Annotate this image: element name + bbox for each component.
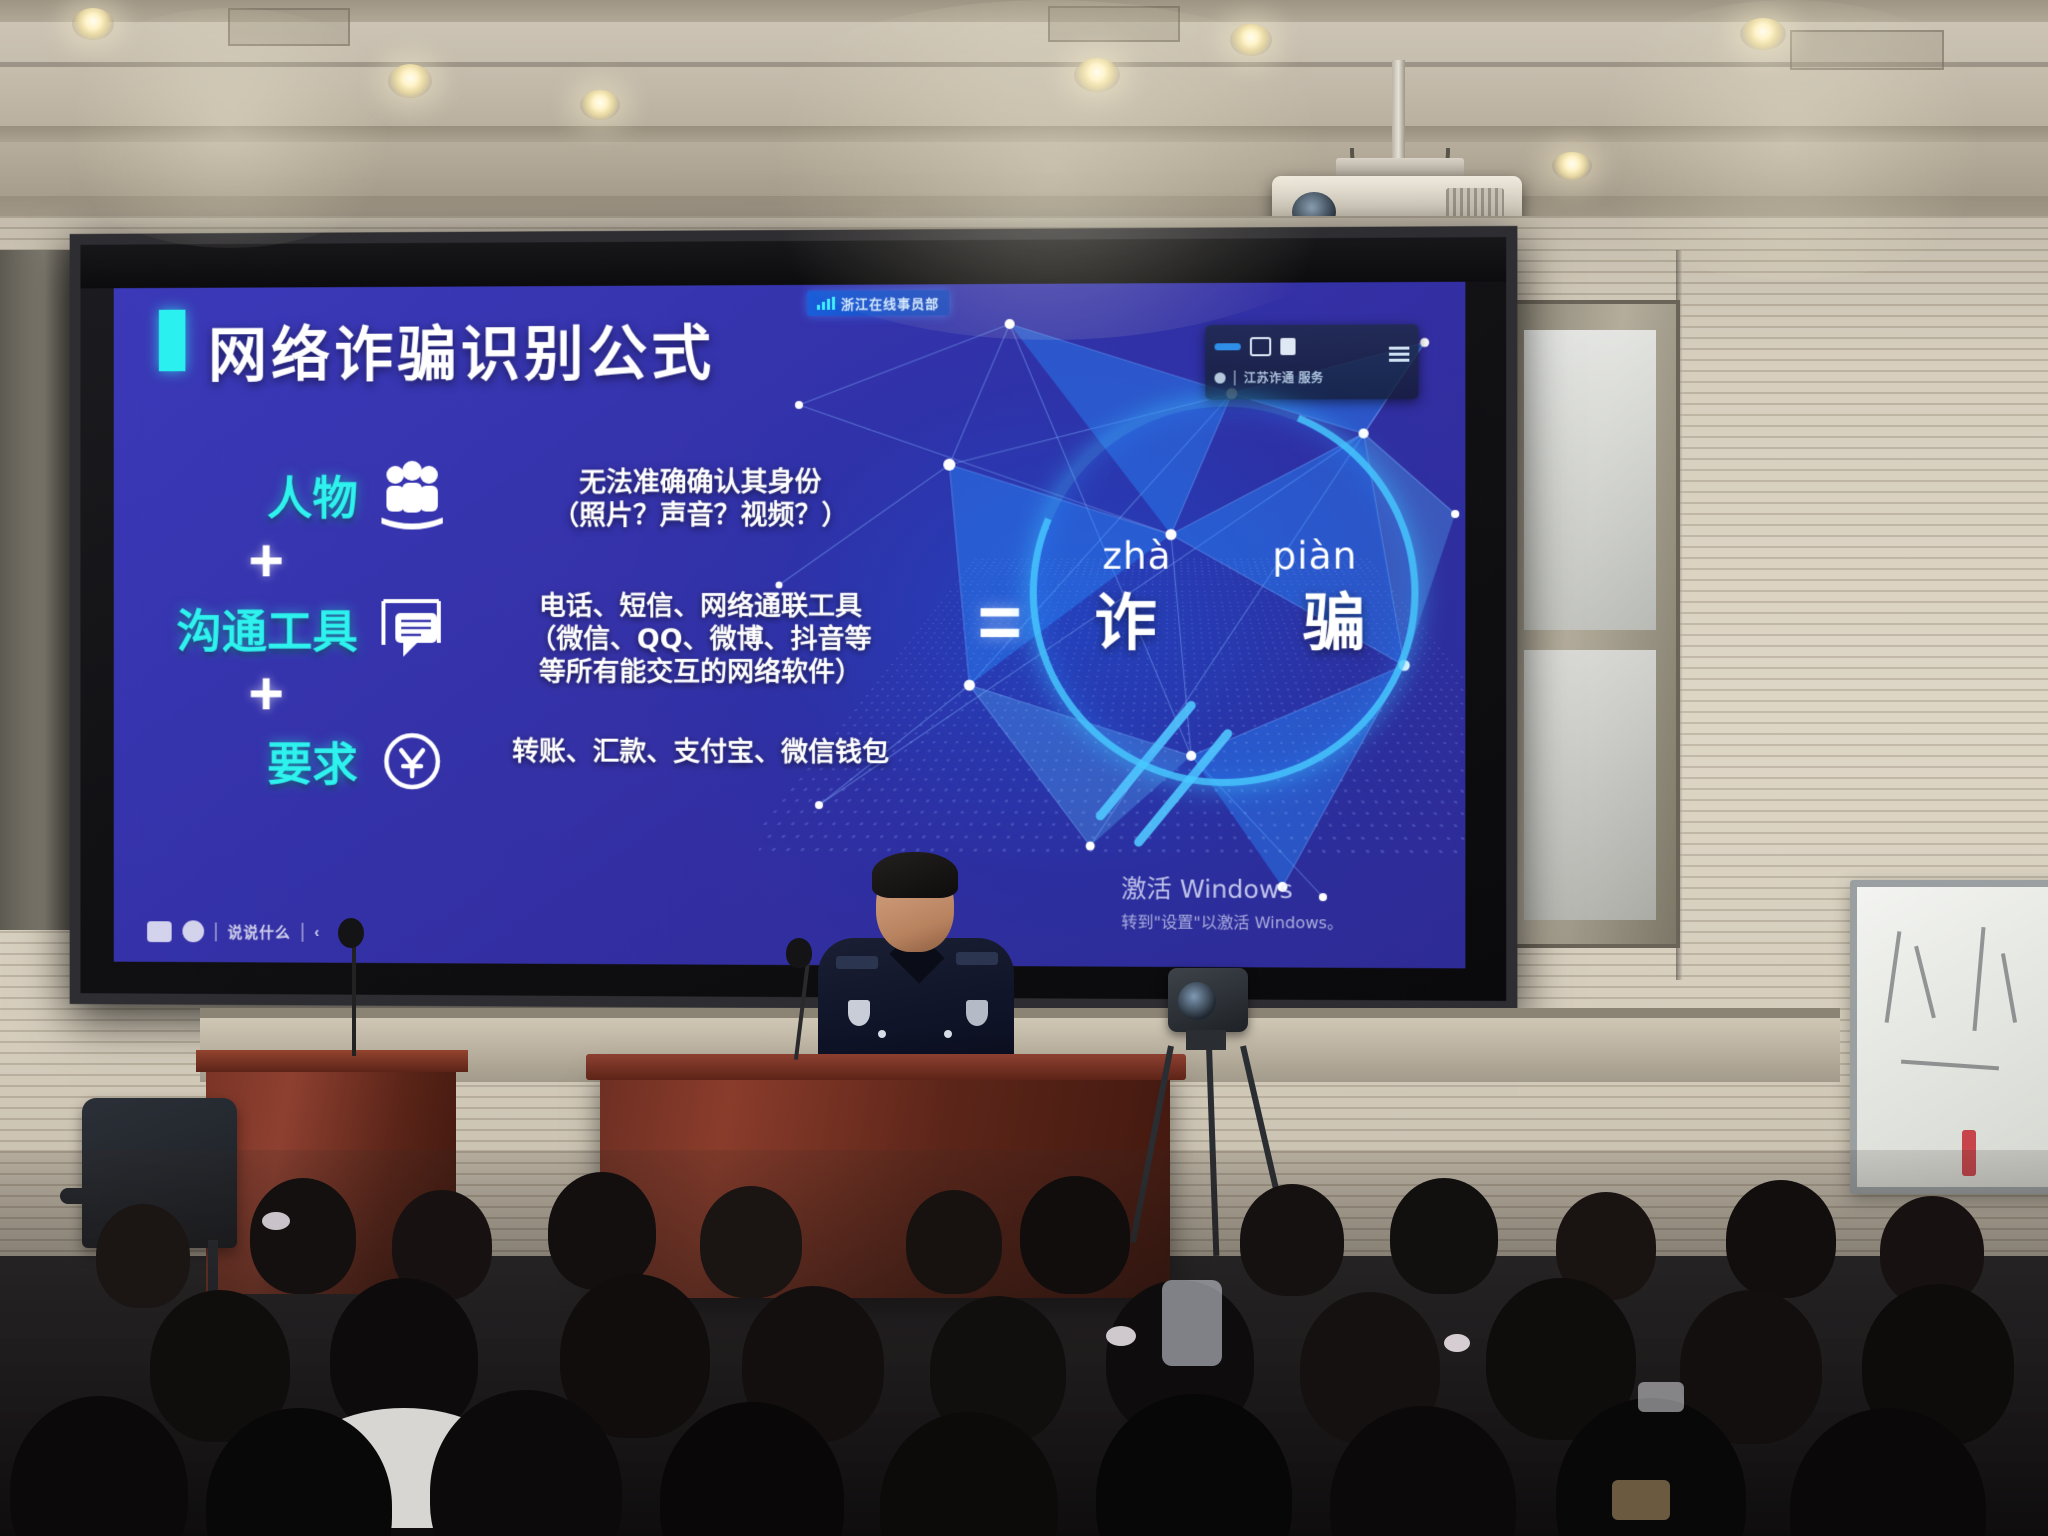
- people-group-icon: [374, 460, 451, 530]
- formula-term-person: 人物: [175, 456, 471, 534]
- audience: [0, 1150, 2048, 1536]
- presenter-badge: [966, 1000, 988, 1026]
- lecture-hall-photo: 网络诈骗识别公式 浙江在线事员部 江苏诈通 服务: [0, 0, 2048, 1536]
- ceiling-downlight: [580, 90, 620, 120]
- hair-clip: [262, 1212, 290, 1230]
- fraud-formula: 人物 + 沟通工具: [175, 456, 471, 800]
- uniform-button: [878, 1030, 886, 1038]
- formula-label-person: 人物: [175, 462, 358, 528]
- result-hanzi: 诈 骗: [1088, 572, 1371, 663]
- floating-toolbar[interactable]: 江苏诈通 服务: [1205, 324, 1418, 399]
- audience-head: [96, 1204, 190, 1308]
- side-podium-top: [196, 1050, 468, 1072]
- stage-platform-edge: [200, 1008, 1840, 1018]
- ceiling-vent: [228, 8, 350, 46]
- ceiling-beam: [0, 126, 2048, 142]
- presentation-slide: 网络诈骗识别公式 浙江在线事员部 江苏诈通 服务: [114, 282, 1466, 969]
- audience-head: [250, 1178, 356, 1294]
- slide-title: 网络诈骗识别公式: [208, 305, 715, 394]
- podium-top-surface: [586, 1054, 1186, 1080]
- menu-lines-icon[interactable]: [1389, 347, 1409, 363]
- hanzi-zha: 诈: [1094, 572, 1157, 662]
- globe-icon[interactable]: [1214, 372, 1225, 383]
- camera-lens-icon: [1178, 982, 1216, 1020]
- footer-divider: [215, 922, 217, 941]
- hanzi-pian: 骗: [1303, 572, 1366, 663]
- formula-term-request: 要求: [175, 722, 471, 800]
- audience-head: [548, 1172, 656, 1290]
- windows-activation-watermark: 激活 Windows 转到"设置"以激活 Windows。: [1121, 869, 1343, 933]
- hair-clip: [1444, 1334, 1470, 1352]
- document-icon[interactable]: [1280, 337, 1295, 354]
- result-word: zhà piàn 诈 骗: [1088, 534, 1371, 662]
- ceiling-downlight: [1074, 58, 1120, 92]
- window-icon[interactable]: [1250, 337, 1271, 356]
- presenter-epaulette: [836, 956, 878, 969]
- ceiling-downlight: [1740, 18, 1786, 50]
- top-banner-label: 浙江在线事员部: [807, 290, 949, 316]
- presenter-epaulette: [956, 952, 998, 965]
- toolbar-divider: [1234, 370, 1236, 385]
- chat-bubble-icon: [374, 593, 451, 663]
- description-request: 转账、汇款、支付宝、微信钱包: [486, 736, 915, 770]
- formula-operator: +: [175, 667, 358, 723]
- wall-side-panel: [0, 250, 74, 930]
- projection-screen: 网络诈骗识别公式 浙江在线事员部 江苏诈通 服务: [70, 226, 1518, 1012]
- ceiling-downlight: [1230, 24, 1272, 56]
- audience-head: [1390, 1178, 1498, 1294]
- ceiling-vent: [1048, 6, 1180, 42]
- presenter-hair: [872, 852, 958, 898]
- formula-label-tool: 沟通工具: [175, 595, 358, 661]
- uniform-button: [944, 1030, 952, 1038]
- ceiling-vent: [1790, 30, 1944, 70]
- ceiling-strip: [0, 62, 2048, 67]
- hair-clip: [1106, 1326, 1136, 1346]
- description-tool: 电话、短信、网络通联工具 （微信、QQ、微博、抖音等 等所有能交互的网络软件）: [486, 591, 915, 690]
- side-microphone: [338, 918, 364, 948]
- footer-brand: 说说什么: [228, 921, 291, 942]
- floating-toolbar-label: 江苏诈通 服务: [1244, 369, 1324, 386]
- yuan-currency-icon: [374, 726, 451, 796]
- formula-label-request: 要求: [175, 728, 358, 794]
- title-accent-bar: [159, 310, 186, 372]
- audience-head: [906, 1190, 1002, 1294]
- footer-divider: [302, 922, 304, 941]
- cloud-icon: [147, 921, 172, 942]
- audience-head: [1726, 1180, 1836, 1298]
- signal-bars-icon: [817, 297, 835, 310]
- audience-head: [1240, 1184, 1344, 1296]
- water-bottle: [1162, 1280, 1222, 1366]
- top-banner-text: 浙江在线事员部: [841, 293, 939, 312]
- screen-bezel: [80, 237, 1506, 288]
- side-microphone-stem: [352, 938, 356, 1056]
- bag: [1612, 1480, 1670, 1520]
- slide-footer: 说说什么 ‹: [147, 920, 320, 943]
- formula-operator: +: [175, 534, 358, 590]
- podium-microphone: [786, 938, 812, 968]
- window-glass-upper: [1524, 330, 1656, 630]
- formula-term-tool: 沟通工具: [175, 589, 471, 667]
- ceiling-downlight: [388, 64, 432, 98]
- play-circle-icon: [182, 920, 204, 942]
- description-person: 无法准确确认其身份 （照片？声音？视频？）: [486, 467, 915, 534]
- chevron-left-icon: ‹: [314, 923, 320, 940]
- presenter-badge: [848, 1000, 870, 1026]
- pill-toggle-icon[interactable]: [1214, 343, 1240, 350]
- audience-head: [1020, 1176, 1130, 1294]
- audience-head: [700, 1186, 802, 1298]
- phone-device: [1638, 1382, 1684, 1412]
- equals-sign: =: [977, 585, 1022, 661]
- ceiling-downlight: [1552, 152, 1592, 180]
- ceiling-downlight: [72, 8, 114, 40]
- window-glass-lower: [1524, 650, 1656, 920]
